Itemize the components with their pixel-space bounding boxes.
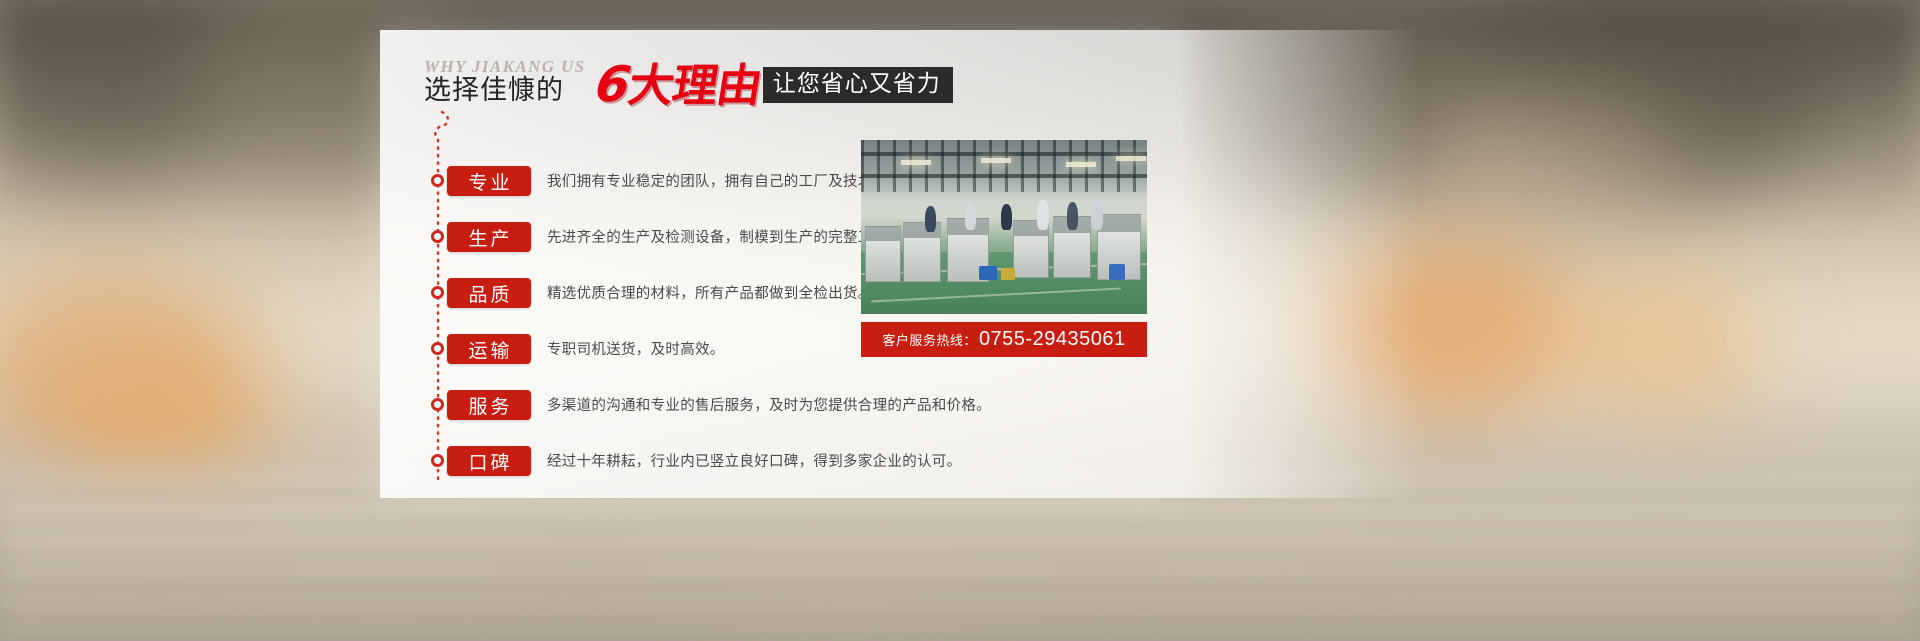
reason-badge[interactable]: 服务	[447, 390, 531, 420]
reason-description: 经过十年耕耘，行业内已竖立良好口碑，得到多家企业的认可。	[547, 450, 961, 471]
bullet-dot-icon	[431, 230, 444, 243]
bullet-dot-icon	[431, 454, 444, 467]
headline-chinese-prefix: 选择佳慷的	[424, 77, 586, 104]
reason-description: 多渠道的沟通和专业的售后服务，及时为您提供合理的产品和价格。	[547, 394, 991, 415]
bullet-dot-icon	[431, 174, 444, 187]
reason-badge[interactable]: 生产	[447, 222, 531, 252]
headline-highlight: 6大理由	[592, 62, 764, 107]
bullet-dot-icon	[431, 342, 444, 355]
headline-tag: 让您省心又省力	[763, 67, 953, 103]
list-item[interactable]: 口碑 经过十年耕耘，行业内已竖立良好口碑，得到多家企业的认可。	[437, 440, 1137, 492]
hotline-number: 0755-29435061	[979, 328, 1126, 351]
bullet-dot-icon	[431, 398, 444, 411]
reason-description: 我们拥有专业稳定的团队，拥有自己的工厂及技术。	[547, 170, 887, 191]
hotline-label: 客户服务热线：	[882, 330, 977, 349]
reason-description: 精选优质合理的材料，所有产品都做到全检出货。	[547, 282, 873, 303]
headline-highlight-text: 大理由	[624, 59, 764, 112]
content-card-fade	[1180, 30, 1420, 498]
reason-badge[interactable]: 运输	[447, 334, 531, 364]
hotline-bar[interactable]: 客户服务热线： 0755-29435061	[861, 322, 1147, 357]
reason-badge[interactable]: 口碑	[447, 446, 531, 476]
reason-description: 先进齐全的生产及检测设备，制模到生产的完整工艺。	[547, 226, 902, 247]
reason-badge[interactable]: 品质	[447, 278, 531, 308]
list-item[interactable]: 服务 多渠道的沟通和专业的售后服务，及时为您提供合理的产品和价格。	[437, 384, 1137, 436]
bullet-dot-icon	[431, 286, 444, 299]
factory-photo	[861, 140, 1147, 314]
page-title: WHY JIAKANG US 选择佳慷的 6大理由 让您省心又省力	[424, 58, 953, 114]
reason-badge[interactable]: 专业	[447, 166, 531, 196]
headline-eyebrow: WHY JIAKANG US	[424, 58, 586, 75]
reason-description: 专职司机送货，及时高效。	[547, 338, 725, 359]
headline-left: WHY JIAKANG US 选择佳慷的	[424, 58, 586, 104]
